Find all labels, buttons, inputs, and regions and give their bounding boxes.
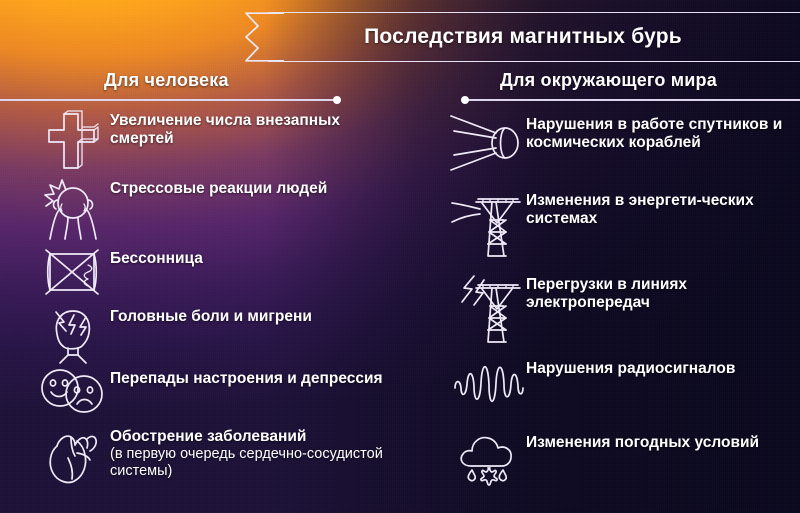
column-title-environment: Для окружающего мира — [500, 70, 717, 91]
item-text: Бессонница — [110, 248, 203, 268]
list-item: Увеличение числа внезапных смертей — [34, 110, 400, 172]
item-text: Перегрузки в линиях электропередач — [526, 274, 800, 313]
column-rule-right — [462, 99, 800, 101]
list-item: Изменения погодных условий — [450, 432, 759, 486]
power-tower-lightning-icon — [450, 274, 526, 346]
happy-sad-faces-icon — [34, 368, 110, 414]
item-text-sub: (в первую очередь сердечно-сосудистой си… — [110, 446, 400, 480]
list-item: Бессонница — [34, 248, 203, 296]
satellite-icon — [450, 114, 526, 172]
list-item: Перепады настроения и депрессия — [34, 368, 383, 414]
list-item: Нарушения радиосигналов — [450, 358, 735, 414]
stressed-head-icon — [34, 178, 110, 242]
item-text: Стрессовые реакции людей — [110, 178, 327, 198]
item-text: Увеличение числа внезапных смертей — [110, 110, 400, 149]
item-text: Изменения в энергети-ческих системах — [526, 190, 800, 229]
item-text-main: Обострение заболеваний — [110, 428, 306, 445]
item-text: Перепады настроения и депрессия — [110, 368, 383, 388]
radio-wave-icon — [450, 358, 526, 414]
column-title-human: Для человека — [104, 70, 229, 91]
item-text: Нарушения радиосигналов — [526, 358, 735, 378]
power-tower-icon — [450, 190, 526, 260]
list-item: Обострение заболеваний (в первую очередь… — [34, 426, 400, 484]
rule-dot-icon — [333, 96, 341, 104]
column-header-environment: Для окружающего мира — [462, 70, 800, 106]
column-rule-left — [0, 99, 340, 101]
heart-icon — [34, 426, 110, 484]
column-header-human: Для человека — [0, 70, 340, 106]
title-ribbon: Последствия магнитных бурь — [228, 12, 800, 62]
list-item: Нарушения в работе спутников и космическ… — [450, 114, 800, 172]
list-item: Головные боли и мигрени — [34, 306, 312, 364]
crossed-bed-insomnia-icon — [34, 248, 110, 296]
list-item: Перегрузки в линиях электропередач — [450, 274, 800, 346]
headache-lightning-head-icon — [34, 306, 110, 364]
item-text: Головные боли и мигрени — [110, 306, 312, 326]
rule-dot-icon — [461, 96, 469, 104]
list-item: Стрессовые реакции людей — [34, 178, 327, 242]
infographic-poster: Последствия магнитных бурь Для человека … — [0, 0, 800, 513]
item-text: Изменения погодных условий — [526, 432, 759, 452]
page-title: Последствия магнитных бурь — [268, 12, 800, 62]
item-text: Нарушения в работе спутников и космическ… — [526, 114, 800, 153]
item-text: Обострение заболеваний (в первую очередь… — [110, 426, 400, 480]
cloud-rain-snow-icon — [450, 432, 526, 486]
grave-cross-icon — [34, 110, 110, 172]
list-item: Изменения в энергети-ческих системах — [450, 190, 800, 260]
